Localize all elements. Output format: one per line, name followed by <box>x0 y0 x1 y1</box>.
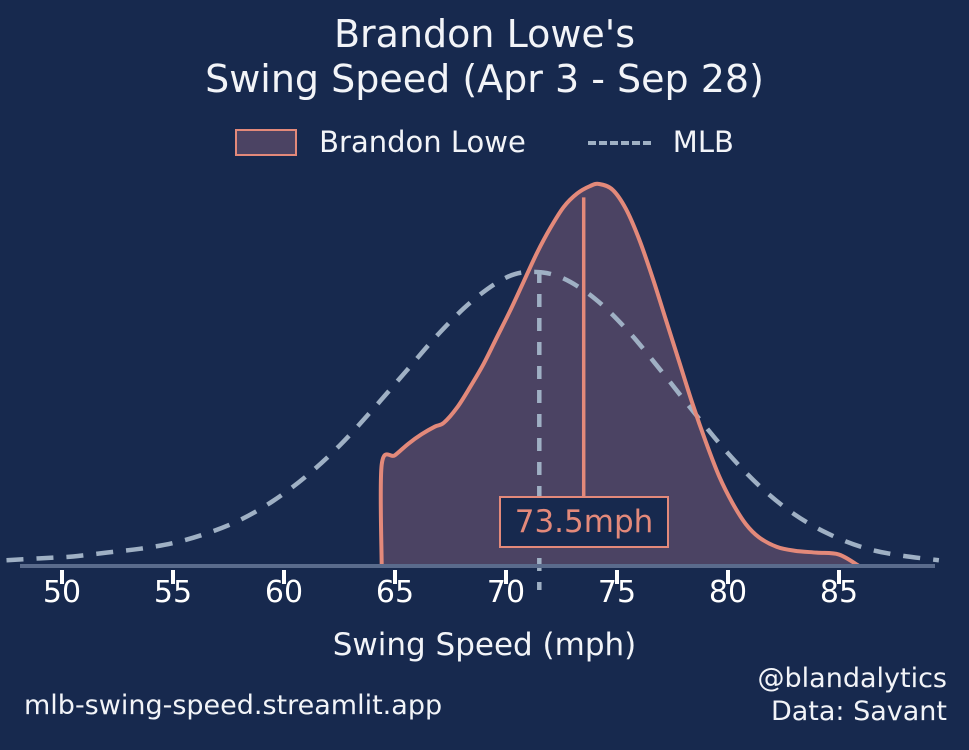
mean-annotation-label: 73.5mph <box>515 507 654 538</box>
x-axis-tick-labels: 5055606570758085 <box>0 578 969 618</box>
x-axis-tick-label: 80 <box>709 578 747 608</box>
chart-canvas: Brandon Lowe's Swing Speed (Apr 3 - Sep … <box>0 0 969 750</box>
x-axis-tick-label: 50 <box>43 578 81 608</box>
footer-handle: @blandalytics <box>758 662 947 695</box>
x-axis-tick-label: 75 <box>598 578 636 608</box>
footer-data-source: Data: Savant <box>758 695 947 728</box>
density-plot <box>0 0 969 600</box>
mean-annotation-box: 73.5mph <box>499 496 669 548</box>
x-axis-tick-label: 65 <box>376 578 414 608</box>
footer-site-url: mlb-swing-speed.streamlit.app <box>24 690 442 721</box>
x-axis-tick-label: 85 <box>820 578 858 608</box>
x-axis-tick-label: 60 <box>265 578 303 608</box>
footer-credits: @blandalytics Data: Savant <box>758 662 947 728</box>
x-axis-title: Swing Speed (mph) <box>0 627 969 663</box>
x-axis-tick-label: 55 <box>154 578 192 608</box>
x-axis-tick-label: 70 <box>487 578 525 608</box>
